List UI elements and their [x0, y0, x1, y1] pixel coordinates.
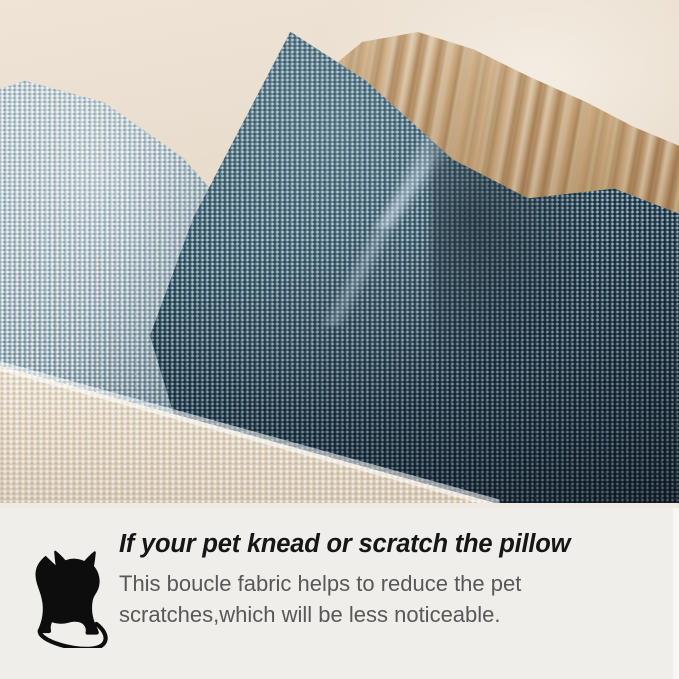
panel-right-edge	[673, 508, 679, 679]
product-photo	[0, 0, 679, 508]
caption-body: This boucle fabric helps to reduce the p…	[119, 568, 639, 630]
product-feature-screenshot: If your pet knead or scratch the pillow …	[0, 0, 679, 679]
caption-copy: If your pet knead or scratch the pillow …	[119, 527, 639, 630]
caption-body-line-1: This boucle fabric helps to reduce the p…	[119, 568, 639, 599]
caption-headline: If your pet knead or scratch the pillow	[119, 527, 639, 561]
cat-silhouette-icon	[33, 548, 119, 648]
caption-body-line-2: scratches,which will be less noticeable.	[119, 599, 639, 630]
